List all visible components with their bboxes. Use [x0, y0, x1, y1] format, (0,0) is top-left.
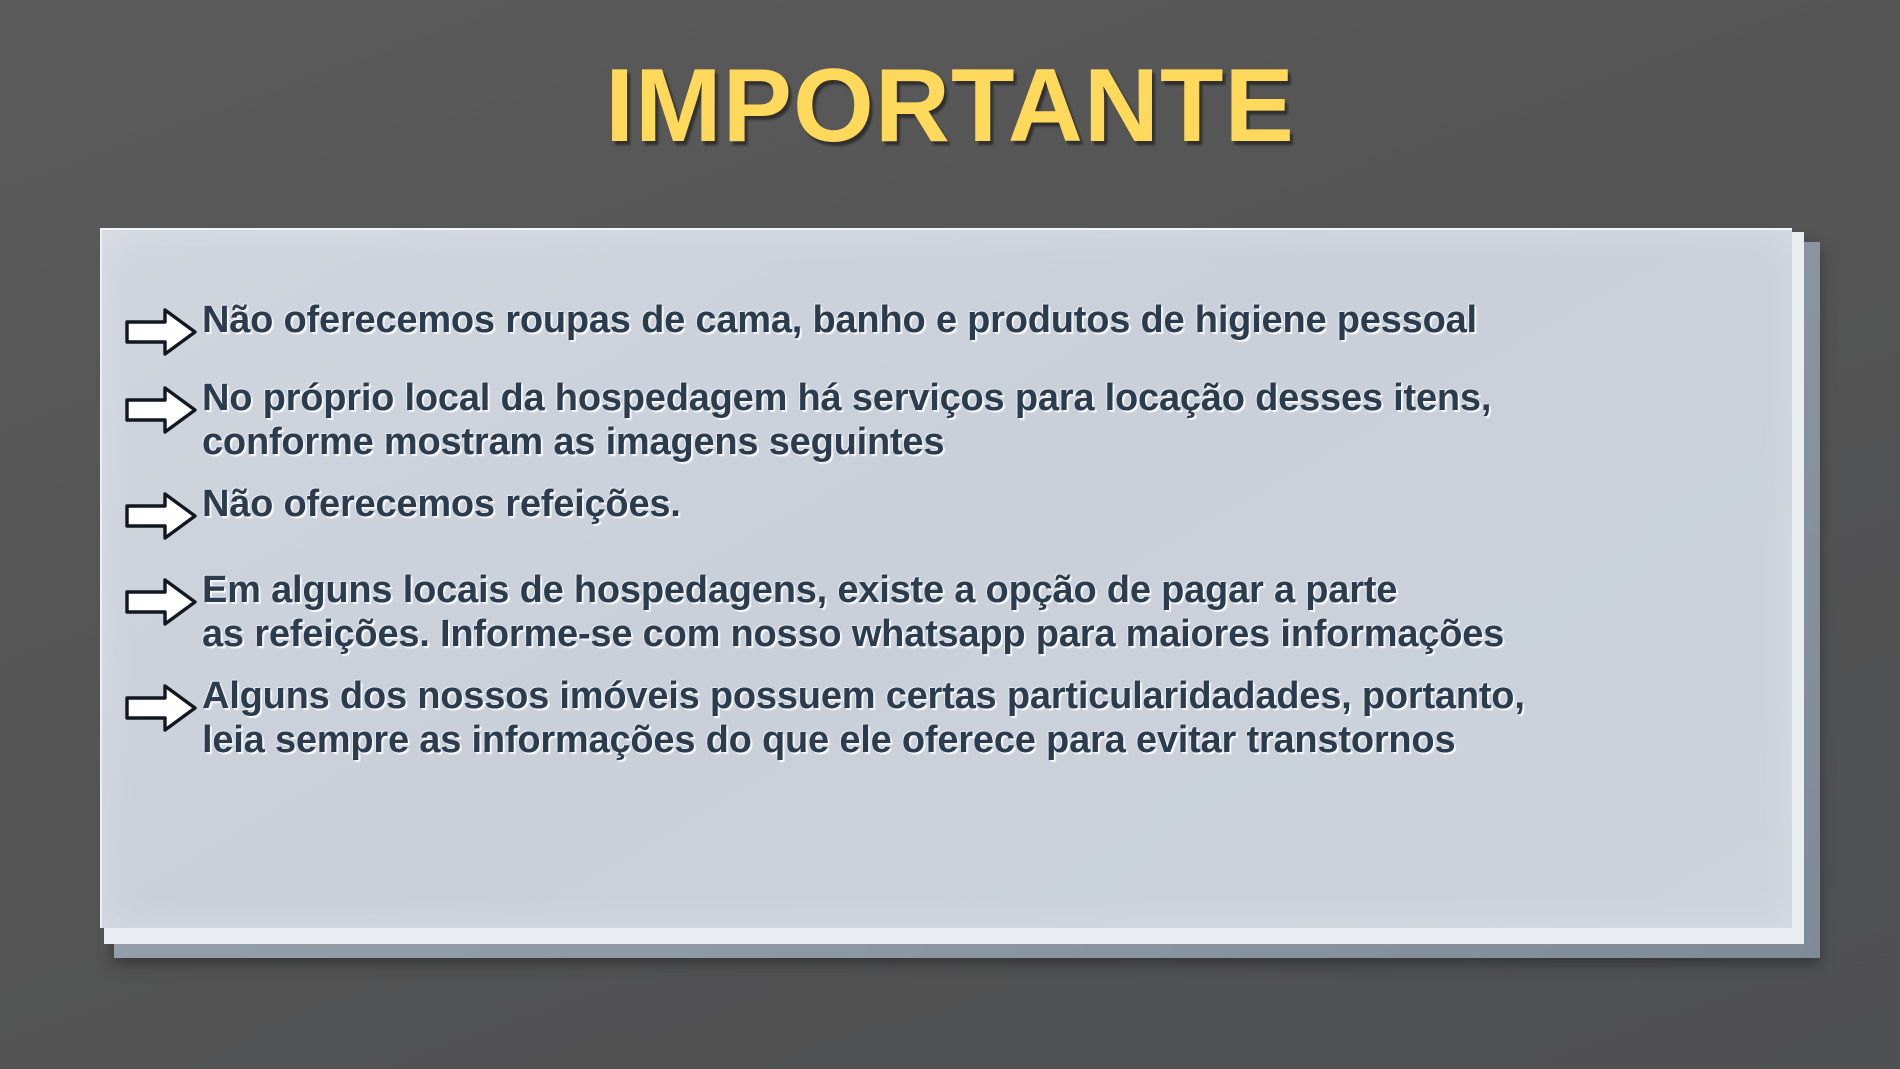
- list-item: Alguns dos nossos imóveis possuem certas…: [124, 674, 1774, 762]
- list-item: No próprio local da hospedagem há serviç…: [124, 376, 1774, 464]
- list-item: Não oferecemos roupas de cama, banho e p…: [124, 298, 1774, 358]
- right-block-arrow-icon: [124, 682, 198, 734]
- list-item: Em alguns locais de hospedagens, existe …: [124, 568, 1774, 656]
- list-item-label: Não oferecemos refeições.: [202, 482, 1774, 526]
- slide-canvas: IMPORTANTE Não oferecemos roupas de cama…: [0, 0, 1900, 1069]
- list-item-label: Não oferecemos roupas de cama, banho e p…: [202, 298, 1774, 342]
- list-item-label: Alguns dos nossos imóveis possuem certas…: [202, 674, 1774, 762]
- right-block-arrow-icon: [124, 306, 198, 358]
- right-block-arrow-icon: [124, 384, 198, 436]
- page-title: IMPORTANTE: [605, 52, 1295, 161]
- list-item-label: Em alguns locais de hospedagens, existe …: [202, 568, 1774, 656]
- right-block-arrow-icon: [124, 490, 198, 542]
- content-panel: Não oferecemos roupas de cama, banho e p…: [100, 228, 1792, 928]
- list-item: Não oferecemos refeições.: [124, 482, 1774, 542]
- list-item-label: No próprio local da hospedagem há serviç…: [202, 376, 1774, 464]
- content-panel-stack: Não oferecemos roupas de cama, banho e p…: [100, 228, 1820, 958]
- right-block-arrow-icon: [124, 576, 198, 628]
- bullet-list: Não oferecemos roupas de cama, banho e p…: [124, 298, 1774, 780]
- title-container: IMPORTANTE: [0, 52, 1900, 161]
